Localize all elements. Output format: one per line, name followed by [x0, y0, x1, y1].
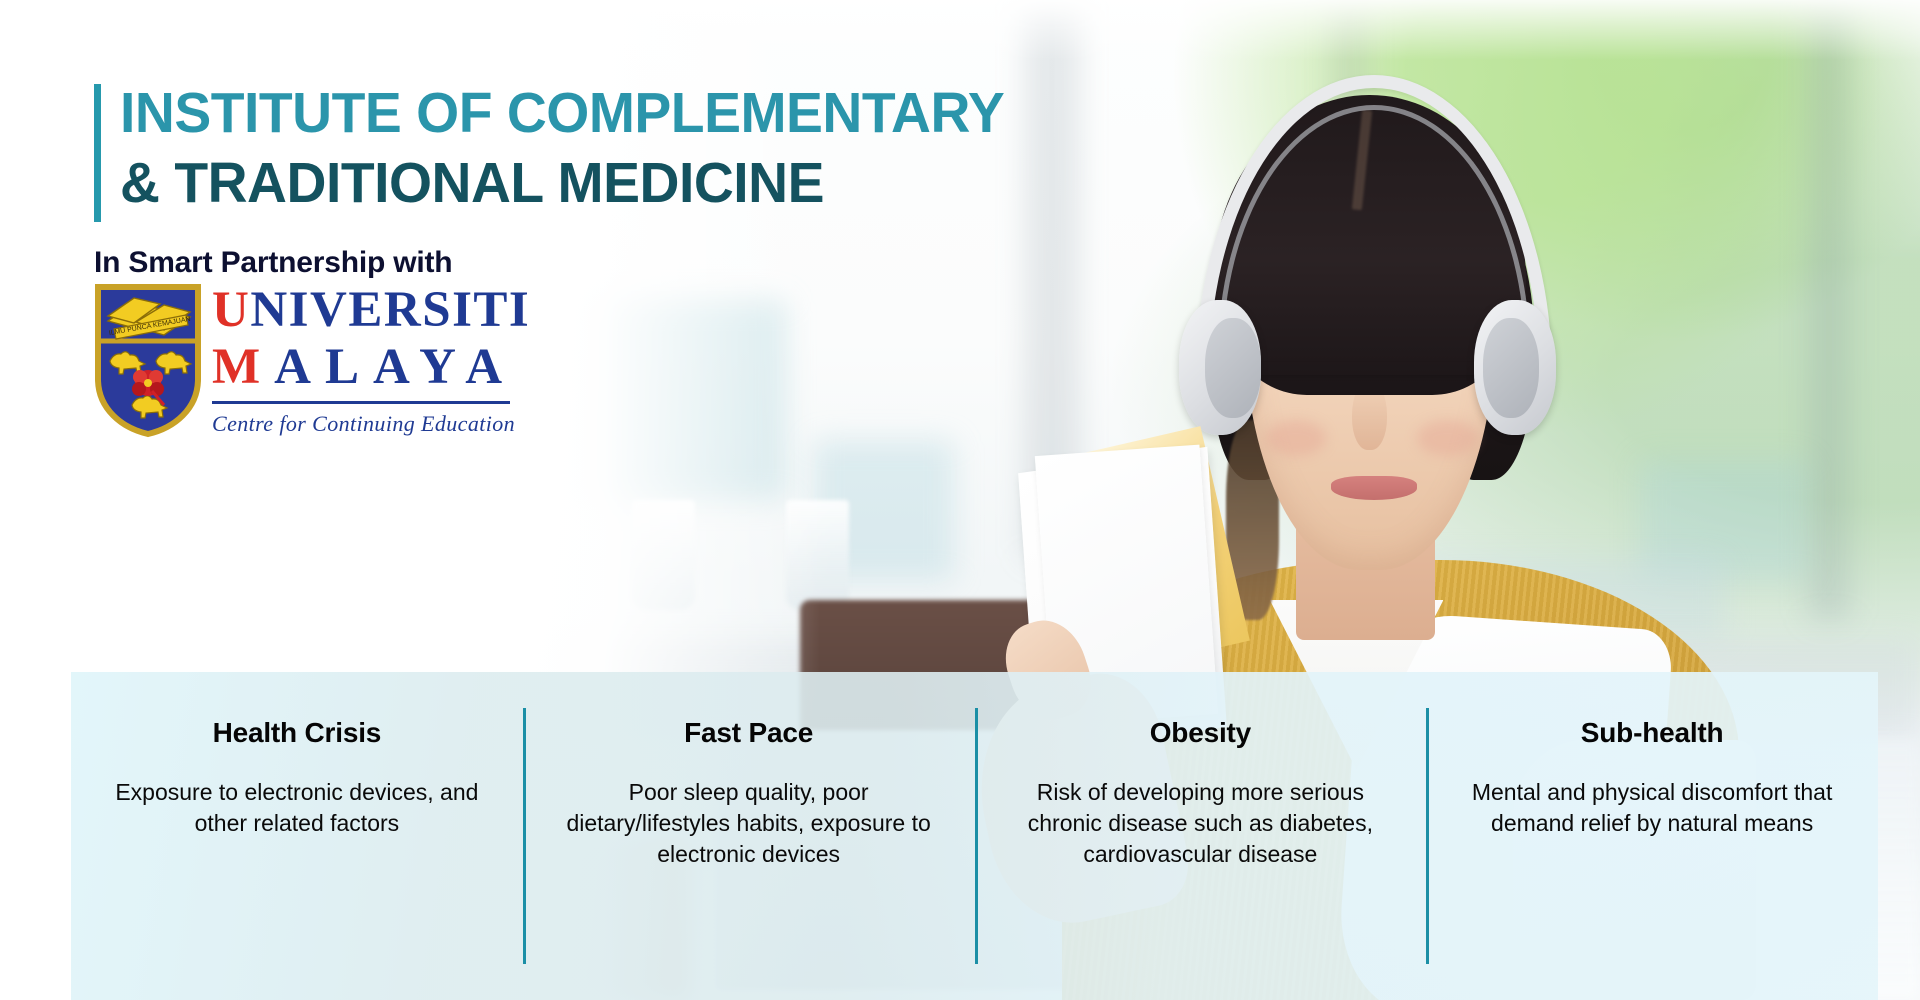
- um-divider-rule: [212, 401, 510, 404]
- photo-top-fade: [520, 0, 1920, 60]
- title-accent-bar: [94, 84, 101, 222]
- um-wordmark: UNIVERSITI MALAYA Centre for Continuing …: [212, 285, 522, 437]
- um-tagline: Centre for Continuing Education: [212, 411, 522, 437]
- info-card-description: Mental and physical discomfort that dema…: [1452, 777, 1852, 839]
- um-wordmark-malaya: MALAYA: [212, 342, 522, 393]
- info-panel: Health Crisis Exposure to electronic dev…: [71, 672, 1878, 1000]
- um-universiti-rest: NIVERSITI: [250, 282, 530, 338]
- um-malaya-rest: ALAYA: [274, 339, 516, 395]
- info-card-sub-health: Sub-health Mental and physical discomfor…: [1426, 672, 1878, 1000]
- info-card-fast-pace: Fast Pace Poor sleep quality, poor dieta…: [523, 672, 975, 1000]
- title-line-primary: INSTITUTE OF COMPLEMENTARY: [120, 78, 1065, 148]
- cheek-blush: [1417, 420, 1478, 456]
- info-card-description: Poor sleep quality, poor dietary/lifesty…: [549, 777, 949, 870]
- background-blur-bar: [1808, 0, 1850, 620]
- info-card-title: Obesity: [999, 717, 1403, 749]
- info-card-title: Health Crisis: [95, 717, 499, 749]
- cheek-blush: [1266, 420, 1327, 456]
- info-card-description: Exposure to electronic devices, and othe…: [97, 777, 497, 839]
- um-accent-u: U: [212, 282, 250, 338]
- page-title: INSTITUTE OF COMPLEMENTARY & TRADITIONAL…: [94, 78, 1094, 218]
- promotional-banner: INSTITUTE OF COMPLEMENTARY & TRADITIONAL…: [0, 0, 1920, 1000]
- universiti-malaya-logo: ILMU PUNCA KEMAJUAN UNIVERSITI MALAYA: [94, 283, 524, 438]
- um-accent-m: M: [212, 339, 274, 395]
- headphone-earpad-right: [1483, 318, 1539, 418]
- title-line-secondary: & TRADITIONAL MEDICINE: [120, 148, 1065, 218]
- headphone-earpad-left: [1205, 318, 1261, 418]
- um-crest-icon: ILMU PUNCA KEMAJUAN: [94, 283, 202, 438]
- info-card-title: Fast Pace: [547, 717, 951, 749]
- partnership-label: In Smart Partnership with: [94, 246, 452, 280]
- info-card-description: Risk of developing more serious chronic …: [1000, 777, 1400, 870]
- info-card-title: Sub-health: [1450, 717, 1854, 749]
- info-card-health-crisis: Health Crisis Exposure to electronic dev…: [71, 672, 523, 1000]
- info-card-obesity: Obesity Risk of developing more serious …: [975, 672, 1427, 1000]
- info-card-list: Health Crisis Exposure to electronic dev…: [71, 672, 1878, 1000]
- mouth-smile: [1331, 476, 1418, 500]
- um-wordmark-universiti: UNIVERSITI: [212, 285, 522, 336]
